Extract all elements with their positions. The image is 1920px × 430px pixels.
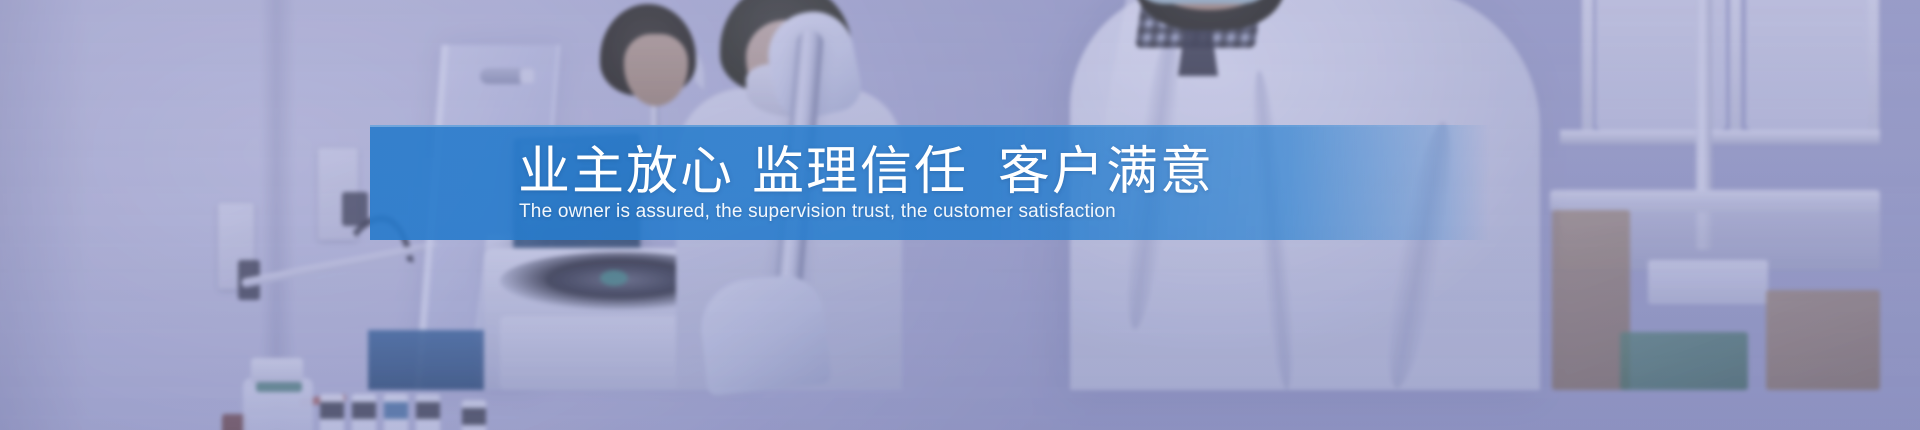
headline-part-2: 监理信任 (752, 143, 968, 201)
banner-headline: 业主放心监理信任客户满意 (518, 146, 1214, 198)
band-top-highlight (370, 125, 1490, 127)
hero-banner: 业主放心监理信任客户满意 The owner is assured, the s… (0, 0, 1920, 430)
headline-part-1: 业主放心 (518, 143, 734, 201)
banner-subheadline: The owner is assured, the supervision tr… (519, 202, 1116, 221)
headline-part-3: 客户满意 (998, 143, 1214, 201)
